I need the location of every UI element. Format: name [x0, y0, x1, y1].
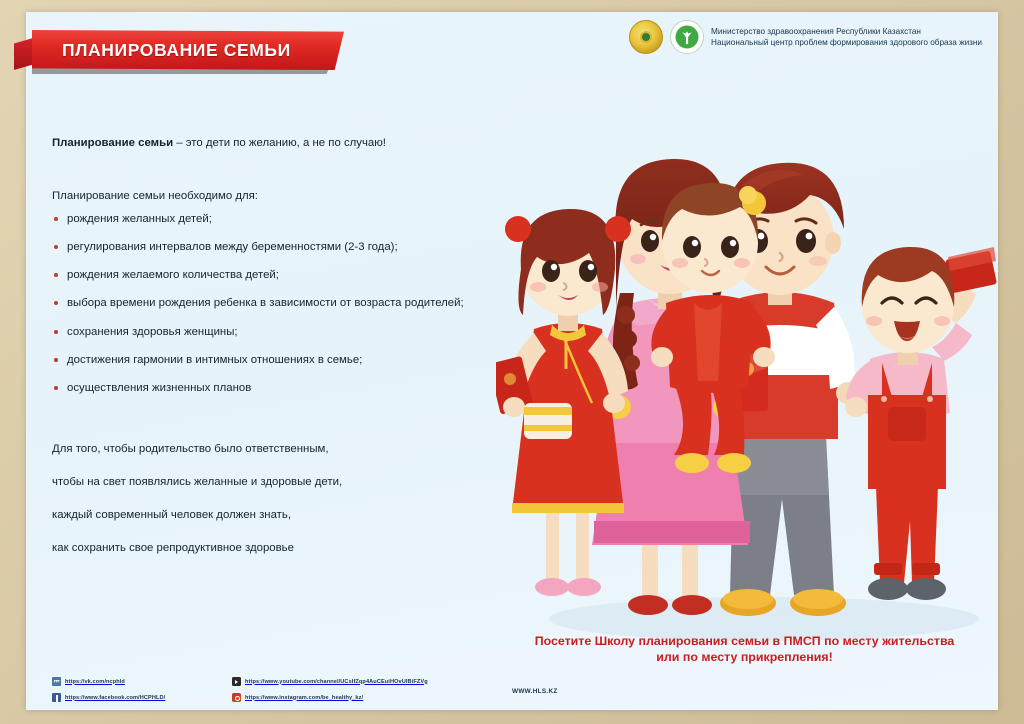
- cta-line-2: или по месту прикрепления!: [507, 649, 982, 666]
- ministry-line-2: Национальный центр проблем формирования …: [711, 37, 982, 48]
- cta-line-1: Посетите Школу планирования семьи в ПМСП…: [507, 633, 982, 650]
- lead-text: Планирование семьи необходимо для:: [52, 190, 258, 202]
- closing-line: чтобы на свет появлялись желанные и здор…: [52, 476, 342, 488]
- list-item: достижения гармонии в интимных отношения…: [52, 354, 464, 367]
- youtube-icon: [232, 677, 241, 686]
- closing-line: как сохранить свое репродуктивное здоров…: [52, 542, 342, 554]
- social-link-youtube-url: https://www.youtube.com/channel/UCsIfZqp…: [245, 679, 428, 685]
- healthy-lifestyle-center-logo-icon: [670, 20, 704, 54]
- facebook-icon: [52, 693, 61, 702]
- social-link-facebook[interactable]: https://www.facebook.com/HCPHLD/: [52, 693, 232, 702]
- closing-paragraph: Для того, чтобы родительство было ответс…: [52, 443, 342, 575]
- website-url[interactable]: WWW.HLS.KZ: [512, 688, 558, 695]
- instagram-icon: [232, 693, 241, 702]
- government-header: Министерство здравоохранения Республики …: [629, 20, 982, 54]
- banner-ribbon: ПЛАНИРОВАНИЕ СЕМЬИ: [32, 30, 344, 70]
- list-item: рождения желаемого количества детей;: [52, 269, 464, 282]
- intro-rest-text: – это дети по желанию, а не по случаю!: [173, 137, 386, 149]
- cartoon-family-illustration: [496, 107, 1024, 652]
- social-link-instagram[interactable]: https://www.instagram.com/be_healthy_kz/: [232, 693, 462, 702]
- list-item: рождения желанных детей;: [52, 213, 464, 226]
- social-link-youtube[interactable]: https://www.youtube.com/channel/UCsIfZqp…: [232, 677, 462, 686]
- closing-line: Для того, чтобы родительство было ответс…: [52, 443, 342, 455]
- poster-title: ПЛАНИРОВАНИЕ СЕМЬИ: [32, 40, 291, 61]
- kazakhstan-state-emblem-icon: [629, 20, 663, 54]
- social-link-vk[interactable]: https://vk.com/ncphld: [52, 677, 232, 686]
- call-to-action: Посетите Школу планирования семьи в ПМСП…: [507, 633, 982, 666]
- ministry-text: Министерство здравоохранения Республики …: [711, 26, 982, 48]
- list-item: регулирования интервалов между беременно…: [52, 241, 464, 254]
- reasons-list: рождения желанных детей; регулирования и…: [52, 213, 464, 410]
- title-banner: ПЛАНИРОВАНИЕ СЕМЬИ: [14, 22, 344, 74]
- ministry-line-1: Министерство здравоохранения Республики …: [711, 26, 982, 37]
- social-link-instagram-url: https://www.instagram.com/be_healthy_kz/: [245, 695, 363, 701]
- poster-canvas: ПЛАНИРОВАНИЕ СЕМЬИ Министерство здравоох…: [0, 0, 1024, 724]
- social-link-facebook-url: https://www.facebook.com/HCPHLD/: [65, 695, 165, 701]
- intro-bold-text: Планирование семьи: [52, 137, 173, 149]
- list-item: сохранения здоровья женщины;: [52, 326, 464, 339]
- closing-line: каждый современный человек должен знать,: [52, 509, 342, 521]
- poster-page: ПЛАНИРОВАНИЕ СЕМЬИ Министерство здравоох…: [26, 12, 998, 710]
- list-item: выбора времени рождения ребенка в зависи…: [52, 297, 464, 310]
- vk-icon: [52, 677, 61, 686]
- figure-boy: [845, 247, 997, 600]
- list-item: осуществления жизненных планов: [52, 382, 464, 395]
- intro-statement: Планирование семьи – это дети по желанию…: [52, 137, 386, 149]
- social-link-vk-url: https://vk.com/ncphld: [65, 679, 125, 685]
- footer-links: https://vk.com/ncphld https://www.facebo…: [52, 677, 572, 702]
